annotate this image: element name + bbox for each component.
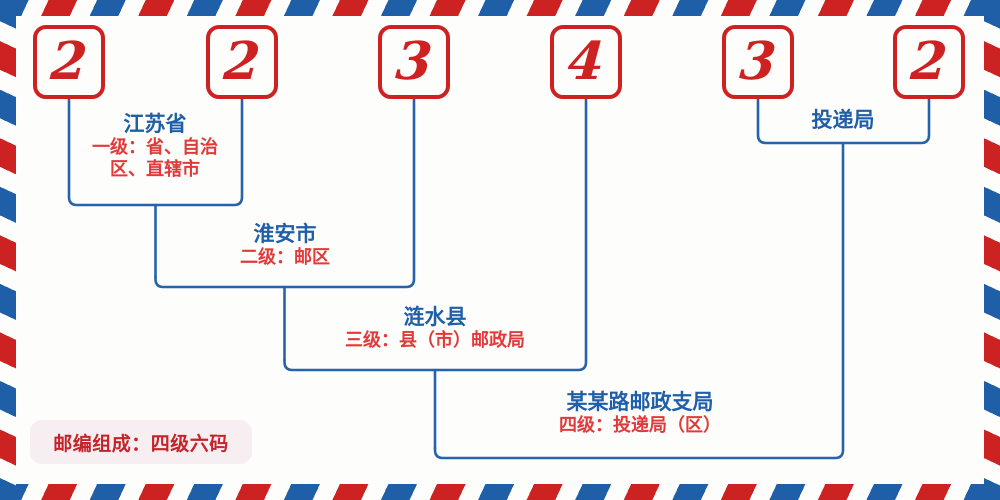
digit-glyph: 2 <box>49 36 89 88</box>
group-level4-sub: 四级：投递局（区） <box>505 415 775 437</box>
postcode-digit-2[interactable]: 2 <box>206 25 278 99</box>
group-level3: 涟水县 三级：县（市）邮政局 <box>305 305 565 352</box>
group-level4: 某某路邮政支局 四级：投递局（区） <box>505 390 775 437</box>
digit-glyph: 3 <box>394 36 434 88</box>
group-level3-title: 涟水县 <box>305 305 565 330</box>
postcode-digit-3[interactable]: 3 <box>378 25 450 99</box>
postcode-digit-5[interactable]: 3 <box>722 25 794 99</box>
group-delivery-title: 投递局 <box>768 108 918 133</box>
group-level3-sub: 三级：县（市）邮政局 <box>305 330 565 352</box>
group-delivery: 投递局 <box>768 108 918 133</box>
digit-glyph: 2 <box>222 36 262 88</box>
digit-glyph: 4 <box>566 36 606 88</box>
group-level1-title: 江苏省 <box>75 112 235 137</box>
postcode-digit-1[interactable]: 2 <box>33 25 105 99</box>
digit-glyph: 2 <box>909 36 949 88</box>
postcode-structure-diagram: 2 2 3 4 3 2 江苏省 一级：省、自治区、直辖市 淮安市 二级：邮区 涟… <box>0 0 1000 500</box>
group-level1: 江苏省 一级：省、自治区、直辖市 <box>75 112 235 181</box>
group-level2-sub: 二级：邮区 <box>180 247 390 269</box>
group-level2: 淮安市 二级：邮区 <box>180 222 390 269</box>
postcode-digit-4[interactable]: 4 <box>550 25 622 99</box>
group-level2-title: 淮安市 <box>180 222 390 247</box>
digit-glyph: 3 <box>738 36 778 88</box>
badge-label: 邮编组成：四级六码 <box>53 429 229 456</box>
group-level1-sub: 一级：省、自治区、直辖市 <box>75 137 235 181</box>
postcode-digit-6[interactable]: 2 <box>893 25 965 99</box>
postcode-composition-badge: 邮编组成：四级六码 <box>30 420 252 464</box>
group-level4-title: 某某路邮政支局 <box>505 390 775 415</box>
